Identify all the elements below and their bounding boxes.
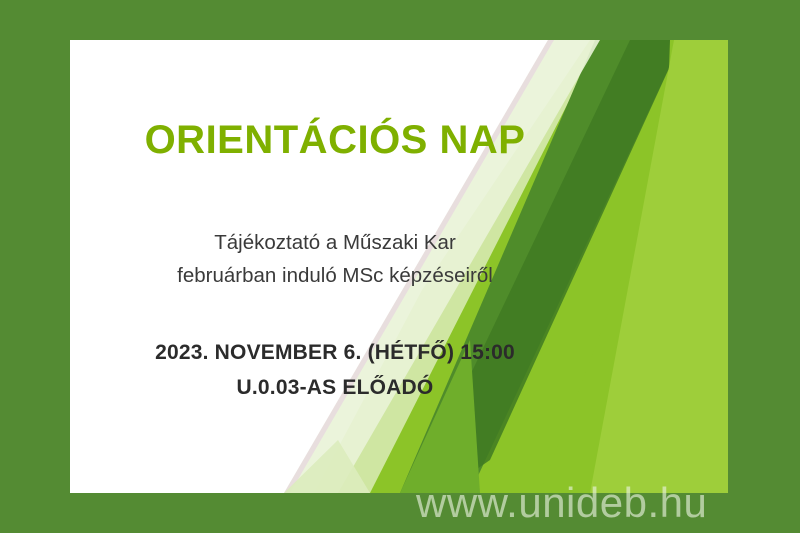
page-title: ORIENTÁCIÓS NAP [70,118,600,162]
subtitle-line-1: Tájékoztató a Műszaki Kar [70,226,600,259]
poster-text-block: ORIENTÁCIÓS NAP Tájékoztató a Műszaki Ka… [70,40,600,493]
poster-slide: ORIENTÁCIÓS NAP Tájékoztató a Műszaki Ka… [0,0,800,533]
poster-subtitle: Tájékoztató a Műszaki Kar februárban ind… [70,226,600,292]
subtitle-line-2: februárban induló MSc képzéseiről [70,259,600,292]
poster-details: 2023. NOVEMBER 6. (HÉTFŐ) 15:00 U.0.03-A… [70,336,600,406]
event-datetime: 2023. NOVEMBER 6. (HÉTFŐ) 15:00 [70,336,600,371]
event-location: U.0.03-AS ELŐADÓ [70,371,600,406]
poster-card: ORIENTÁCIÓS NAP Tájékoztató a Műszaki Ka… [70,40,728,493]
